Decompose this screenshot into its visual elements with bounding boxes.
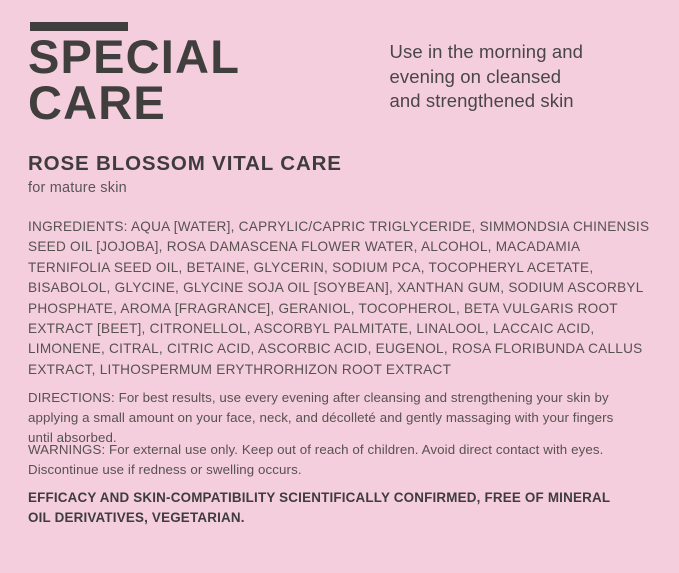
efficacy-statement: EFFICACY AND SKIN-COMPATIBILITY SCIENTIF…	[28, 488, 628, 529]
product-subtitle: for mature skin	[28, 180, 127, 196]
page-title: SPECIAL CARE	[28, 34, 240, 125]
usage-tagline: Use in the morning and evening on cleans…	[390, 34, 583, 114]
header-row: SPECIAL CARE Use in the morning and even…	[28, 34, 651, 125]
product-name: ROSE BLOSSOM VITAL CARE	[28, 152, 342, 176]
ingredients-list: INGREDIENTS: AQUA [WATER], CAPRYLIC/CAPR…	[28, 217, 653, 380]
warnings-text: WARNINGS: For external use only. Keep ou…	[28, 440, 628, 480]
product-label: SPECIAL CARE Use in the morning and even…	[0, 0, 679, 573]
